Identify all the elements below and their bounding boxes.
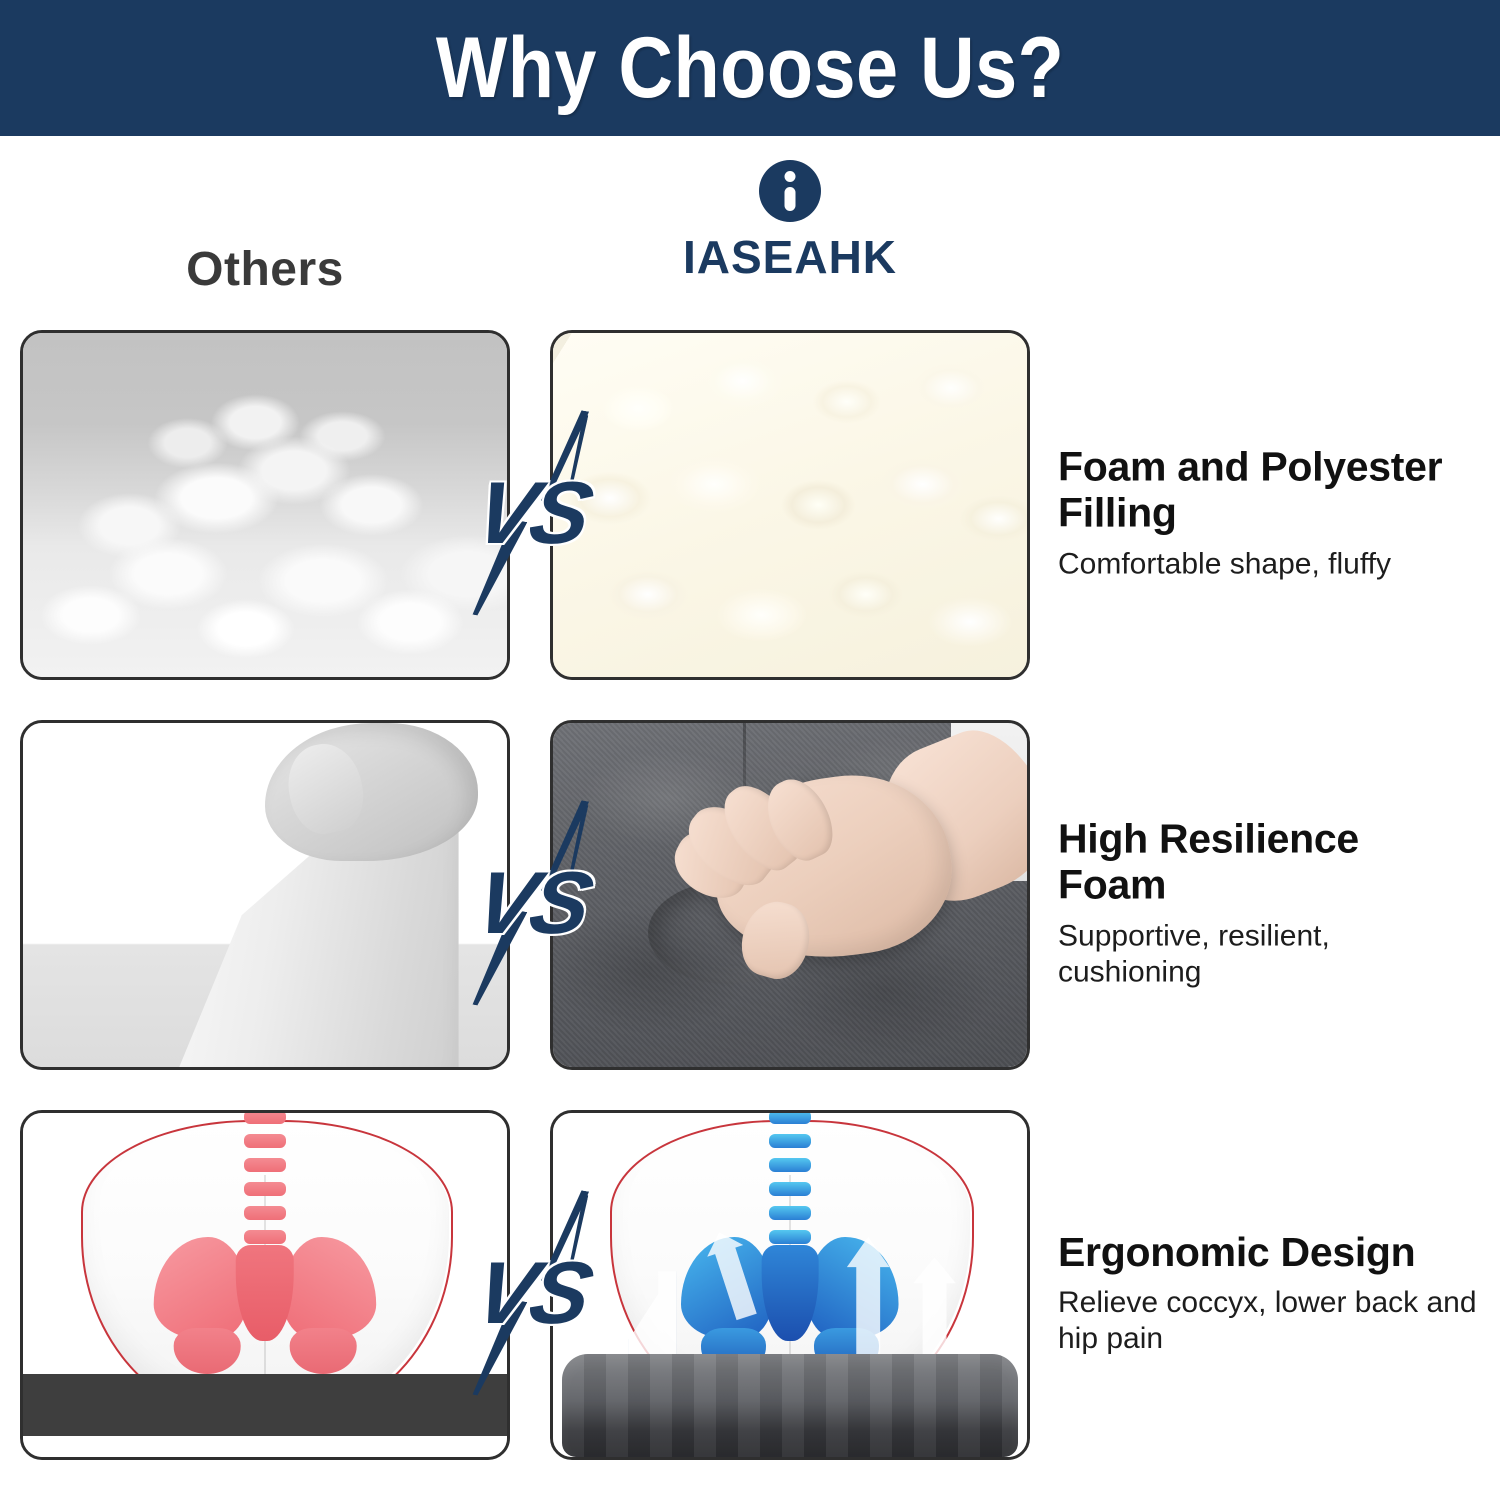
vertebra xyxy=(769,1134,811,1148)
pubic-ramus xyxy=(174,1328,241,1375)
vertebra xyxy=(244,1110,286,1124)
pubic-ramus xyxy=(290,1328,357,1375)
feature-subtitle: Supportive, resilient, cushioning xyxy=(1058,918,1478,990)
hand-pressing-cushion-image xyxy=(553,723,1027,1067)
feature-text-block: Ergonomic Design Relieve coccyx, lower b… xyxy=(1058,1229,1478,1357)
comparison-row: VS Foam and Polyester Filling Comfortabl… xyxy=(0,318,1500,708)
header-banner: Why Choose Us? xyxy=(0,0,1500,136)
panel-gap xyxy=(510,318,550,708)
others-image-panel xyxy=(20,1110,510,1460)
comparison-row: VS Ergonomic Design Relieve coccyx, lowe… xyxy=(0,1098,1500,1488)
vertebra xyxy=(769,1158,811,1172)
feature-title: Foam and Polyester Filling xyxy=(1058,444,1478,537)
red-spine-pelvis-image xyxy=(23,1113,507,1457)
polyester-fiber-image xyxy=(23,333,507,677)
pelvis-wing xyxy=(154,1237,248,1339)
vertebra xyxy=(244,1182,286,1196)
brand-name-label: IASEAHK xyxy=(550,230,1030,284)
feature-subtitle: Comfortable shape, fluffy xyxy=(1058,546,1478,582)
others-column-label: Others xyxy=(20,242,510,297)
others-image-panel xyxy=(20,720,510,1070)
feature-title: Ergonomic Design xyxy=(1058,1229,1478,1275)
sacrum xyxy=(236,1245,294,1341)
panel-gap xyxy=(510,708,550,1098)
shredded-foam-image xyxy=(553,333,1027,677)
feature-text-block: High Resilience Foam Supportive, resilie… xyxy=(1058,816,1478,991)
sacrum xyxy=(762,1245,819,1341)
vertebra xyxy=(244,1206,286,1220)
comparison-rows: VS Foam and Polyester Filling Comfortabl… xyxy=(0,318,1500,1488)
page-title: Why Choose Us? xyxy=(436,19,1064,118)
info-icon-stem xyxy=(785,187,796,211)
comparison-row: VS High Resilience Foam Supportive, resi… xyxy=(0,708,1500,1098)
info-icon-dot xyxy=(785,171,796,182)
brand-image-panel xyxy=(550,330,1030,680)
vertebra xyxy=(244,1134,286,1148)
feature-text-block: Foam and Polyester Filling Comfortable s… xyxy=(1058,444,1478,583)
thin-foam-sheet-image xyxy=(23,723,507,1067)
pelvis-wing xyxy=(807,1237,899,1339)
soft-cushion-shape xyxy=(562,1354,1017,1457)
vertebra xyxy=(769,1206,811,1220)
column-headings: Others IASEAHK xyxy=(0,136,1500,318)
brand-column-header: IASEAHK xyxy=(550,160,1030,284)
others-image-panel xyxy=(20,330,510,680)
vertebra xyxy=(769,1110,811,1124)
hard-bench-bar xyxy=(23,1374,507,1436)
pelvis-icon xyxy=(154,1237,377,1375)
blue-spine-pelvis-image xyxy=(553,1113,1027,1457)
feature-subtitle: Relieve coccyx, lower back and hip pain xyxy=(1058,1285,1478,1357)
info-circle-icon xyxy=(759,160,821,222)
brand-image-panel xyxy=(550,1110,1030,1460)
pelvis-wing xyxy=(283,1237,377,1339)
brand-image-panel xyxy=(550,720,1030,1070)
vertebra xyxy=(769,1182,811,1196)
feature-title: High Resilience Foam xyxy=(1058,816,1478,909)
vertebra xyxy=(244,1158,286,1172)
panel-gap xyxy=(510,1098,550,1488)
